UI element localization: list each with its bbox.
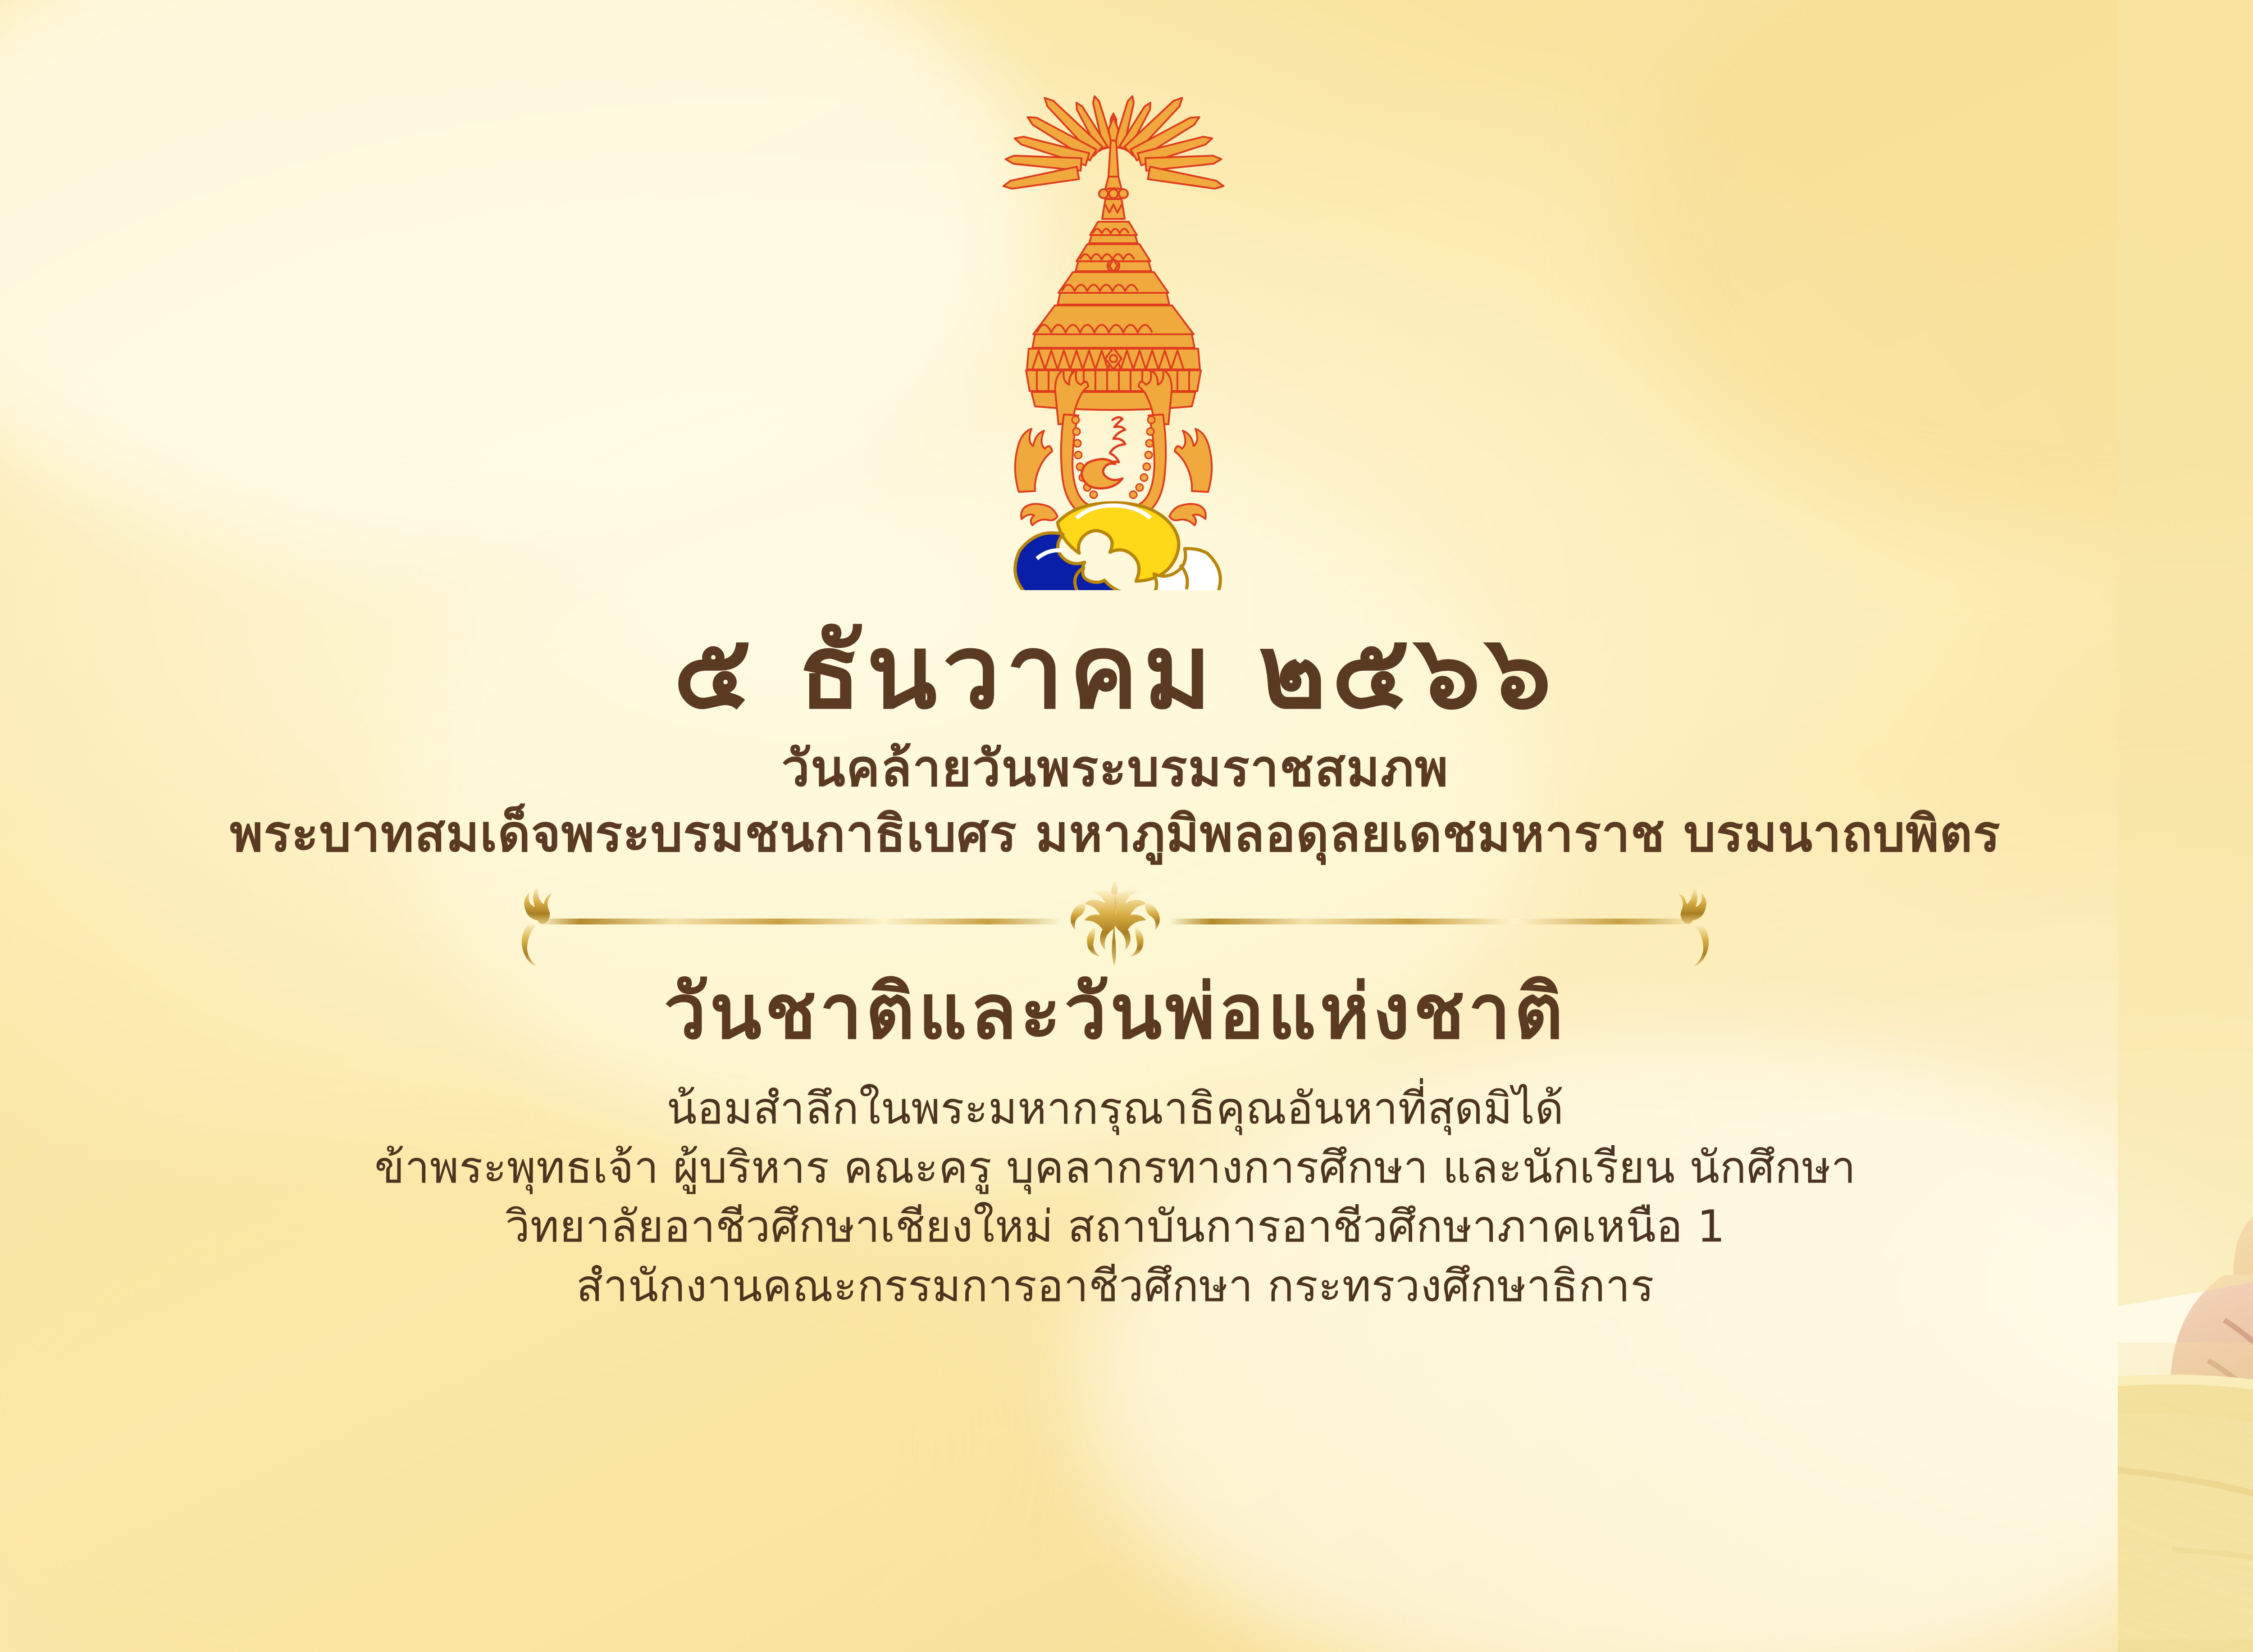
body-line-2: ข้าพระพุทธเจ้า ผู้บริหาร คณะครู บุคลากรท… — [0, 1138, 2230, 1197]
divider-flourish-right — [1678, 887, 1709, 966]
royal-emblem — [969, 54, 1258, 590]
body-line-1: น้อมสำลึกในพระมหากรุณาธิคุณอันหาที่สุดมิ… — [0, 1079, 2230, 1138]
headline-date: ๕ ธันวาคม ๒๕๖๖ — [0, 620, 2230, 723]
ornamental-divider — [462, 877, 1769, 967]
divider-center-ornament — [1071, 879, 1160, 966]
secondary-headline: วันชาติและวันพ่อแห่งชาติ — [0, 972, 2230, 1051]
naga-wing-left — [1015, 429, 1052, 492]
body-line-3: วิทยาลัยอาชีวศึกษาเชียงใหม่ สถาบันการอาช… — [0, 1197, 2230, 1256]
content-column: ๕ ธันวาคม ๒๕๖๖ วันคล้ายวันพระบรมราชสมภพ … — [0, 0, 2230, 1652]
divider-flourish-left — [522, 887, 552, 966]
naga-wing-right — [1175, 429, 1212, 492]
body-text-group: น้อมสำลึกในพระมหากรุณาธิคุณอันหาที่สุดมิ… — [0, 1079, 2230, 1316]
text-block: ๕ ธันวาคม ๒๕๖๖ วันคล้ายวันพระบรมราชสมภพ … — [0, 620, 2230, 1316]
royal-cipher-glyph — [1082, 417, 1126, 488]
commemorative-banner: ๕ ธันวาคม ๒๕๖๖ วันคล้ายวันพระบรมราชสมภพ … — [0, 0, 2253, 1652]
headline-subtitle-1: วันคล้ายวันพระบรมราชสมภพ — [0, 738, 2230, 800]
umbrella-tiers — [1026, 222, 1201, 410]
body-line-4: สำนักงานคณะกรรมการอาชีวศึกษา กระทรวงศึกษ… — [0, 1257, 2230, 1316]
headline-subtitle-2: พระบาทสมเด็จพระบรมชนกาธิเบศร มหาภูมิพลอด… — [0, 803, 2230, 865]
ring-finger — [2234, 1203, 2253, 1361]
